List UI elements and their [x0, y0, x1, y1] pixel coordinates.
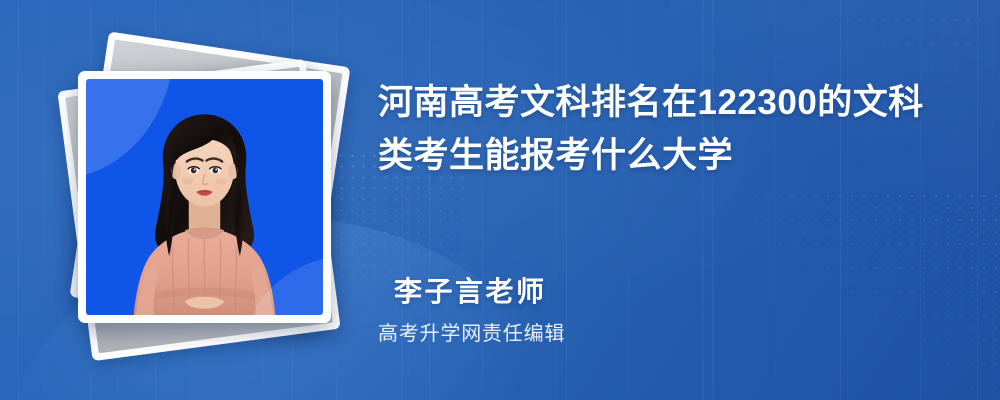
author-name: 李子言老师: [394, 270, 547, 310]
photo-card-front: [78, 71, 331, 323]
header-text-column: 河南高考文科排名在122300的文科 类考生能报考什么大学 李子言老师 高考升学…: [376, 0, 976, 400]
page-title-line-2: 类考生能报考什么大学: [378, 136, 733, 175]
page-title: 河南高考文科排名在122300的文科 类考生能报考什么大学: [378, 76, 968, 182]
author-role: 高考升学网责任编辑: [378, 317, 565, 346]
page-title-line-1: 河南高考文科排名在122300的文科: [378, 83, 924, 122]
author-photo: [86, 79, 323, 315]
portrait-illustration: [86, 79, 323, 315]
photo-card-stack: [62, 52, 347, 342]
article-header-banner: 河南高考文科排名在122300的文科 类考生能报考什么大学 李子言老师 高考升学…: [0, 0, 1000, 400]
